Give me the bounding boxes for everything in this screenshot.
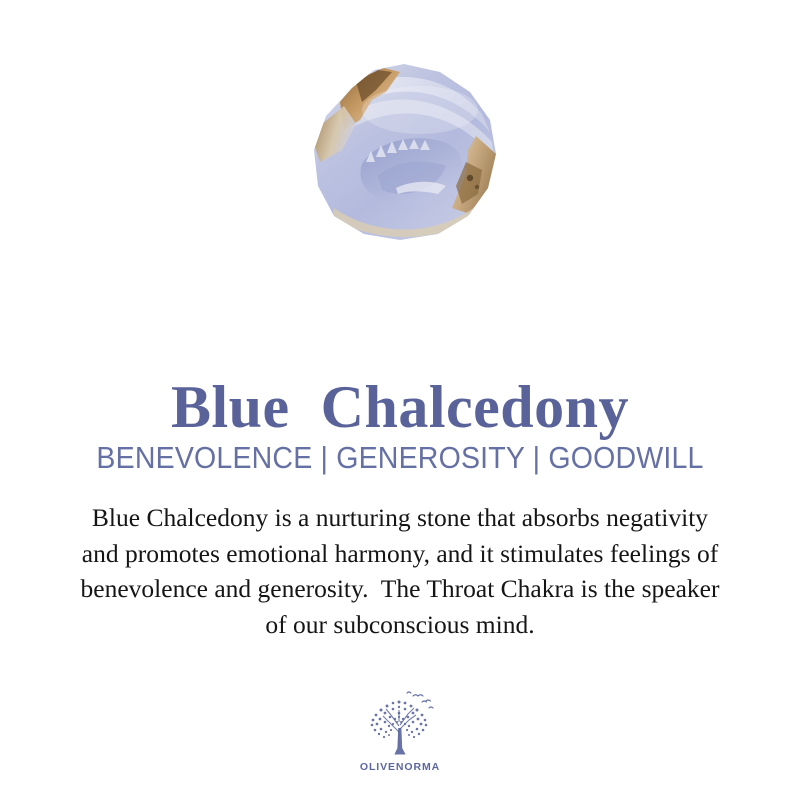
description-line: Blue Chalcedony is a nurturing stone tha… xyxy=(0,500,800,536)
page-title: Blue Chalcedony xyxy=(0,376,800,439)
description-paragraph: Blue Chalcedony is a nurturing stone tha… xyxy=(0,500,800,642)
stone-pit-b xyxy=(475,185,479,189)
gemstone-image xyxy=(300,58,510,246)
description-line: of our subconscious mind. xyxy=(0,607,800,643)
brand-wordmark: OLIVENORMA xyxy=(360,761,440,773)
stone-pit-a xyxy=(467,175,473,181)
product-info-card: Blue Chalcedony BENEVOLENCE | GENEROSITY… xyxy=(0,0,800,800)
brand-logo: OLIVENORMA xyxy=(350,688,450,784)
blue-chalcedony-illustration xyxy=(300,58,510,246)
olive-tree-with-birds-icon xyxy=(361,688,439,760)
stone-sheen xyxy=(362,86,478,134)
description-line: and promotes emotional harmony, and it s… xyxy=(0,536,800,572)
description-line: benevolence and generosity. The Throat C… xyxy=(0,571,800,607)
keyword-subtitle: BENEVOLENCE | GENEROSITY | GOODWILL xyxy=(32,440,768,476)
